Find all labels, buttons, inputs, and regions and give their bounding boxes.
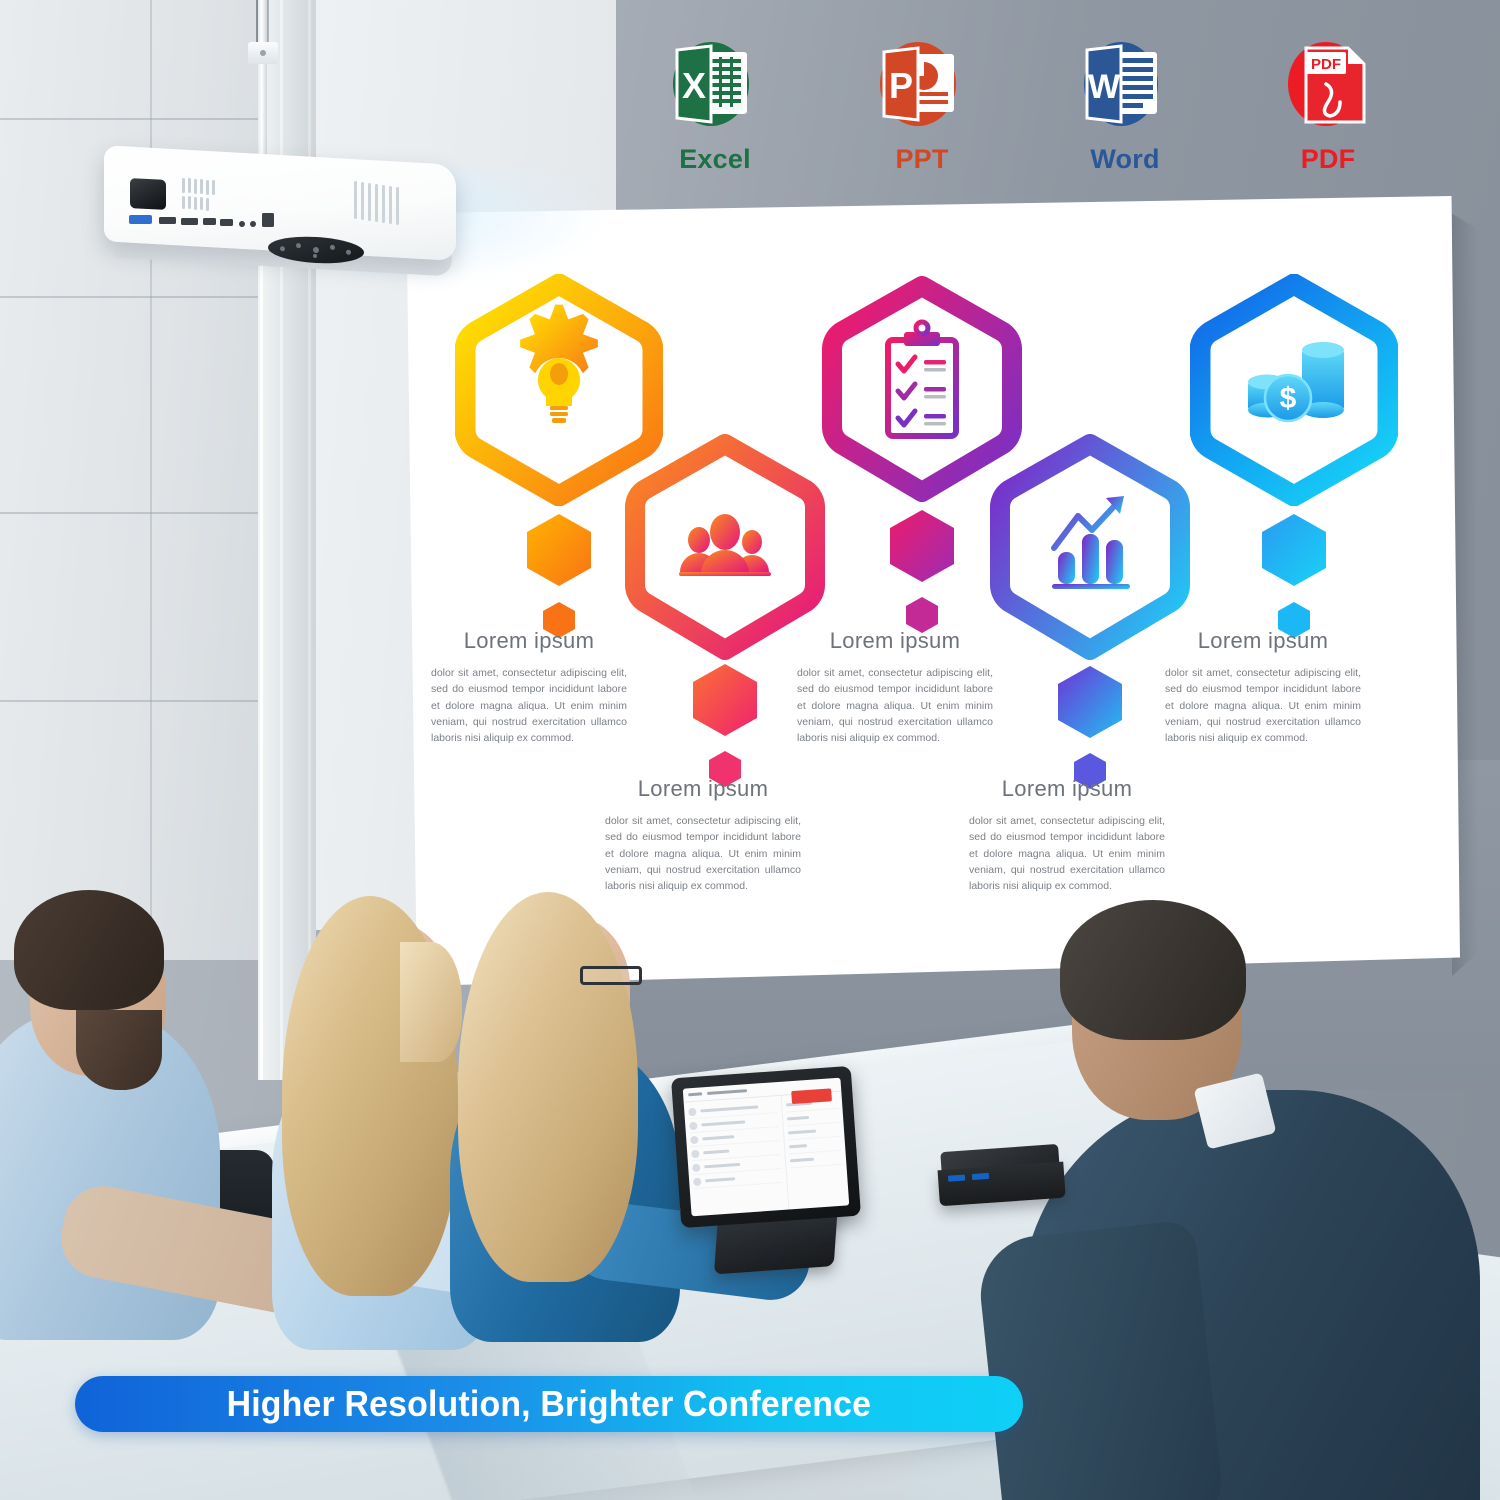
usb-port-1 xyxy=(203,218,216,225)
infographic-slide: Lorem ipsum dolor sit amet, consectetur … xyxy=(400,196,1460,986)
tablet-screen[interactable] xyxy=(683,1078,850,1217)
people-group-icon xyxy=(625,434,825,660)
caption-body: dolor sit amet, consectetur adipiscing e… xyxy=(605,813,801,894)
caption-node-2: Lorem ipsum dolor sit amet, consectetur … xyxy=(588,776,818,894)
format-item-ppt: P PPT xyxy=(847,34,997,175)
tablet-side-panel[interactable] xyxy=(782,1092,850,1211)
format-label: Excel xyxy=(640,144,790,175)
hdmi-port-2 xyxy=(181,218,198,225)
caption-node-4: Lorem ipsum dolor sit amet, consectetur … xyxy=(952,776,1182,894)
ceiling-mount-rod xyxy=(258,0,267,168)
excel-file-icon: X xyxy=(640,34,790,142)
svg-text:X: X xyxy=(682,65,706,106)
powerpoint-file-icon: P xyxy=(847,34,997,142)
caption-node-5: Lorem ipsum dolor sit amet, consectetur … xyxy=(1148,628,1378,746)
caption-body: dolor sit amet, consectetur adipiscing e… xyxy=(797,665,993,746)
caption-node-1: Lorem ipsum dolor sit amet, consectetur … xyxy=(414,628,644,746)
svg-text:$: $ xyxy=(1280,382,1297,415)
projection-screen: Lorem ipsum dolor sit amet, consectetur … xyxy=(400,196,1460,986)
conference-tablet[interactable] xyxy=(671,1066,861,1228)
tablet-list-panel[interactable] xyxy=(684,1096,790,1217)
projector-lens xyxy=(130,178,166,210)
format-item-word: W Word xyxy=(1050,34,1200,175)
coin-stack-icon: $ xyxy=(1190,274,1398,506)
feature-banner: Higher Resolution, Brighter Conference xyxy=(75,1376,1023,1432)
format-item-pdf: PDF PDF xyxy=(1253,34,1403,175)
audio-jack-2 xyxy=(250,221,256,227)
svg-text:P: P xyxy=(889,65,913,106)
format-item-excel: X Excel xyxy=(640,34,790,175)
growth-chart-icon xyxy=(990,434,1190,660)
format-label: Word xyxy=(1050,144,1200,175)
svg-text:PDF: PDF xyxy=(1311,56,1341,73)
format-label: PDF xyxy=(1253,144,1403,175)
hex-node-4 xyxy=(990,434,1190,660)
connector-hex-large-2 xyxy=(689,662,761,738)
caption-heading: Lorem ipsum xyxy=(414,628,644,654)
caption-heading: Lorem ipsum xyxy=(780,628,1010,654)
connector-hex-large-5 xyxy=(1258,512,1330,588)
svg-text:W: W xyxy=(1088,68,1121,106)
caption-heading: Lorem ipsum xyxy=(1148,628,1378,654)
pdf-file-icon: PDF xyxy=(1253,34,1403,142)
vga-port xyxy=(129,215,152,224)
caption-body: dolor sit amet, consectetur adipiscing e… xyxy=(969,813,1165,894)
eyeglasses xyxy=(580,966,642,985)
marketing-scene: Lorem ipsum dolor sit amet, consectetur … xyxy=(0,0,1500,1500)
banner-text: Higher Resolution, Brighter Conference xyxy=(227,1383,872,1425)
tablet-alert-badge[interactable] xyxy=(791,1088,832,1104)
caption-heading: Lorem ipsum xyxy=(588,776,818,802)
hex-node-5: $ xyxy=(1190,274,1398,506)
connector-hex-large-4 xyxy=(1054,664,1126,740)
caption-node-3: Lorem ipsum dolor sit amet, consectetur … xyxy=(780,628,1010,746)
format-label: PPT xyxy=(847,144,997,175)
usb-port-2 xyxy=(220,219,233,226)
supported-formats-row: X Excel P PPT xyxy=(640,34,1440,199)
caption-body: dolor sit amet, consectetur adipiscing e… xyxy=(431,665,627,746)
usb-port-front-1 xyxy=(948,1175,965,1182)
tiled-wall-left xyxy=(0,0,300,960)
ceiling-mounted-projector xyxy=(104,155,456,280)
mini-pc-box xyxy=(936,1144,1065,1207)
connector-hex-large-1 xyxy=(523,512,595,588)
word-file-icon: W xyxy=(1050,34,1200,142)
usb-port-front-2 xyxy=(972,1173,989,1180)
hdmi-port-1 xyxy=(159,217,176,224)
power-port xyxy=(262,213,274,227)
connector-hex-large-3 xyxy=(886,508,958,584)
hex-node-2 xyxy=(625,434,825,660)
caption-heading: Lorem ipsum xyxy=(952,776,1182,802)
side-item[interactable] xyxy=(790,1151,843,1169)
mount-bracket xyxy=(248,42,278,64)
caption-body: dolor sit amet, consectetur adipiscing e… xyxy=(1165,665,1361,746)
audio-jack-1 xyxy=(239,221,245,227)
